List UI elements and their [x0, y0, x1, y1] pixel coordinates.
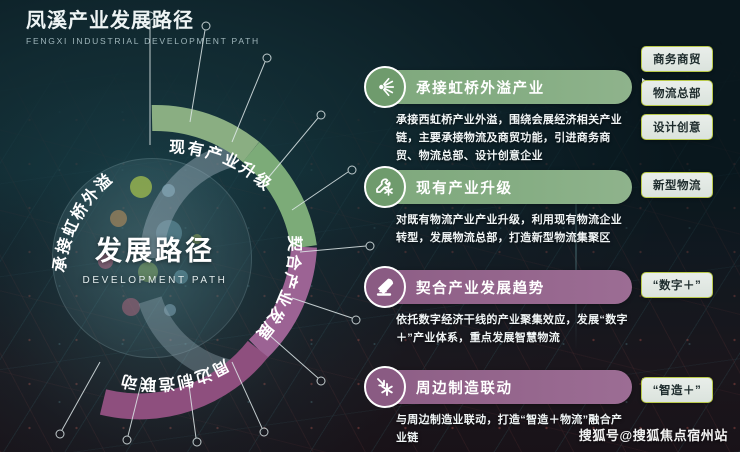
card-2-header[interactable]: 现有产业升级 — [370, 170, 632, 204]
card-1-description: 承接西虹桥产业外溢，围绕会展经济相关产业链，主要承接物流及商贸功能，引进商务商贸… — [396, 112, 632, 165]
watermark: 搜狐号@搜狐焦点宿州站 — [579, 425, 728, 444]
card-2-title: 现有产业升级 — [416, 177, 513, 198]
card-1-title: 承接虹桥外溢产业 — [416, 77, 545, 98]
rocket-icon — [364, 266, 406, 308]
card-4-title: 周边制造联动 — [416, 377, 513, 398]
card-1[interactable]: 承接虹桥外溢产业 承接西虹桥产业外溢，围绕会展经济相关产业链，主要承接物流及商贸… — [370, 70, 632, 165]
tag-business-trade[interactable]: 商务商贸 — [641, 46, 713, 72]
tag-smart-manufacturing[interactable]: “智造＋” — [641, 377, 713, 403]
card-3-description: 依托数字经济干线的产业聚集效应，发展“数字＋”产业体系，重点发展智慧物流 — [396, 312, 632, 348]
center-title: 发展路径 — [95, 229, 215, 268]
center-label: 发展路径 DEVELOPMENT PATH — [55, 185, 255, 329]
tag-logistics-hq[interactable]: 物流总部 — [641, 80, 713, 106]
card-3-title: 契合产业发展趋势 — [416, 277, 545, 298]
tag-new-logistics[interactable]: 新型物流 — [641, 172, 713, 198]
card-4-header[interactable]: 周边制造联动 — [370, 370, 632, 404]
card-2[interactable]: 现有产业升级 对既有物流产业产业升级，利用现有物流企业转型，发展物流总部，打造新… — [370, 170, 632, 248]
card-3-header[interactable]: 契合产业发展趋势 — [370, 270, 632, 304]
center-subtitle: DEVELOPMENT PATH — [83, 275, 228, 286]
infographic-canvas: 凤溪产业发展路径 FENGXI INDUSTRIAL DEVELOPMENT P… — [0, 0, 740, 452]
wrench-icon — [364, 166, 406, 208]
burst-icon — [364, 66, 406, 108]
tag-design-creative[interactable]: 设计创意 — [641, 114, 713, 140]
arrow-star-icon — [364, 366, 406, 408]
card-1-header[interactable]: 承接虹桥外溢产业 — [370, 70, 632, 104]
card-2-description: 对既有物流产业产业升级，利用现有物流企业转型，发展物流总部，打造新型物流集聚区 — [396, 212, 632, 248]
card-3[interactable]: 契合产业发展趋势 依托数字经济干线的产业聚集效应，发展“数字＋”产业体系，重点发… — [370, 270, 632, 348]
tag-digital-plus[interactable]: “数字＋” — [641, 272, 713, 298]
